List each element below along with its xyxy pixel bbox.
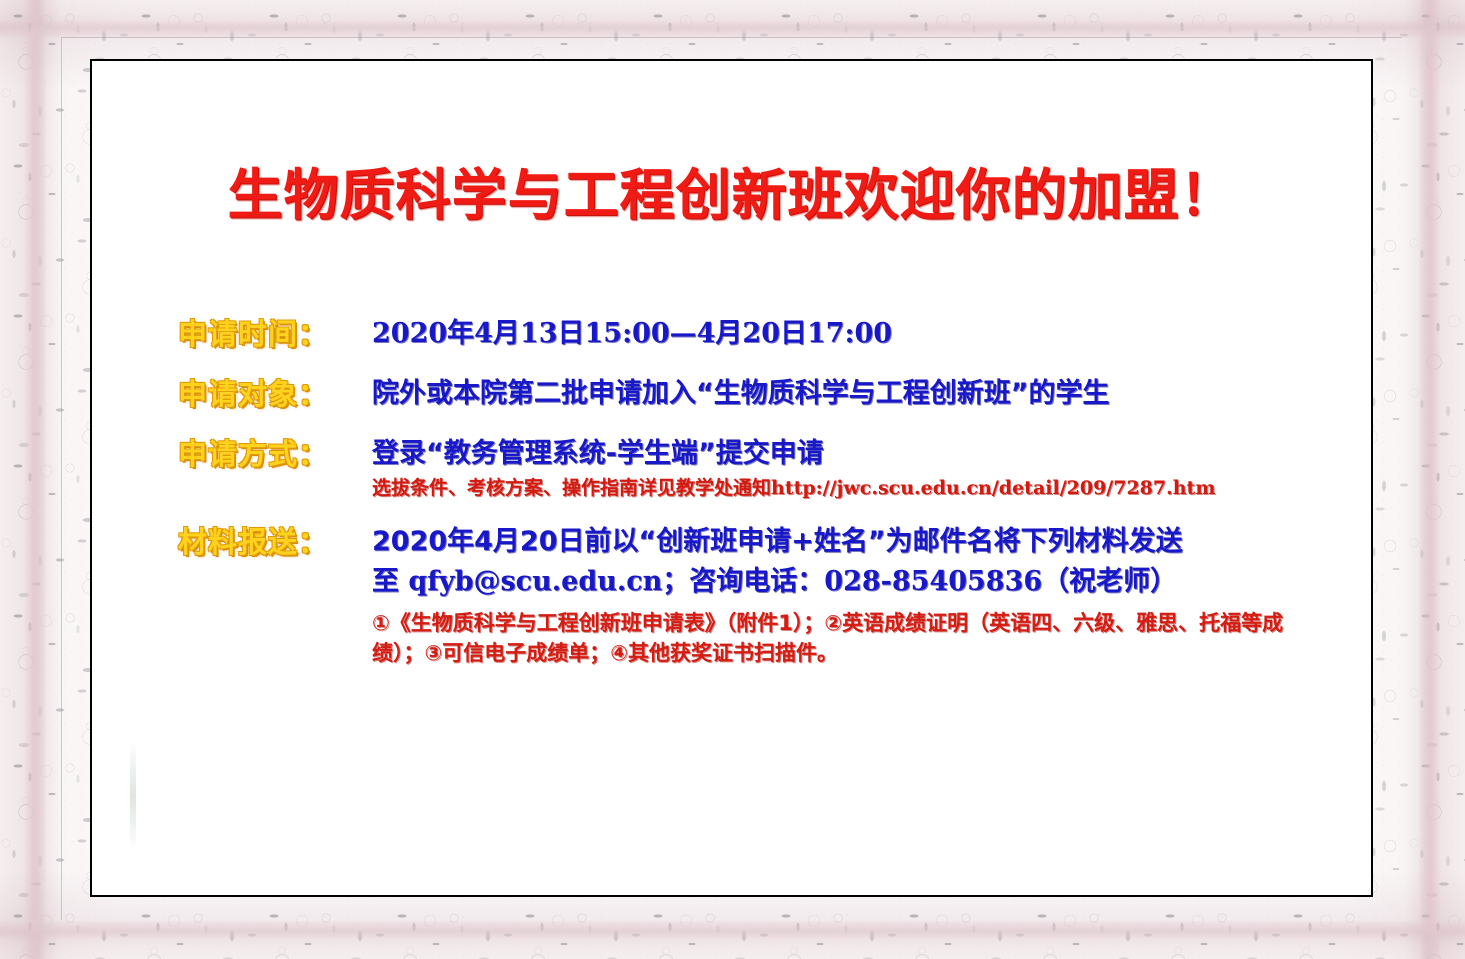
content-applicants: 院外或本院第二批申请加入“生物质科学与工程创新班”的学生	[372, 374, 1351, 414]
value-applicants: 院外或本院第二批申请加入“生物质科学与工程创新班”的学生	[372, 374, 1351, 414]
submission-prefix-text: 至	[372, 566, 408, 597]
note-application-method-text: 选拔条件、考核方案、操作指南详见教学处通知	[372, 477, 771, 499]
contact-person-name: （祝老师）	[1042, 566, 1177, 597]
info-row-material-submission: 材料报送： 2020年4月20日前以“创新班申请+姓名”为邮件名将下列材料发送 …	[178, 522, 1351, 668]
materials-checklist: ①《生物质科学与工程创新班申请表》（附件1）；②英语成绩证明（英语四、六级、雅思…	[372, 608, 1312, 668]
content-material-submission: 2020年4月20日前以“创新班申请+姓名”为邮件名将下列材料发送 至 qfyb…	[372, 522, 1351, 668]
info-row-applicants: 申请对象： 院外或本院第二批申请加入“生物质科学与工程创新班”的学生	[178, 374, 1351, 414]
label-applicants: 申请对象：	[178, 374, 372, 414]
poster-root: 生物质科学与工程创新班欢迎你的加盟！ 申请时间： 2020年4月13日15:00…	[0, 0, 1465, 959]
value-application-time: 2020年4月13日15:00—4月20日17:00	[372, 314, 1351, 354]
content-application-method: 登录“教务管理系统-学生端”提交申请 选拔条件、考核方案、操作指南详见教学处通知…	[372, 434, 1351, 502]
content-application-time: 2020年4月13日15:00—4月20日17:00	[372, 314, 1351, 354]
poster-title: 生物质科学与工程创新班欢迎你的加盟！	[92, 165, 1371, 225]
info-row-application-method: 申请方式： 登录“教务管理系统-学生端”提交申请 选拔条件、考核方案、操作指南详…	[178, 434, 1351, 502]
label-application-method: 申请方式：	[178, 434, 372, 474]
jwc-notice-link[interactable]: http://jwc.scu.edu.cn/detail/209/7287.ht…	[771, 477, 1215, 499]
note-application-method: 选拔条件、考核方案、操作指南详见教学处通知http://jwc.scu.edu.…	[372, 475, 1351, 502]
poster-body: 申请时间： 2020年4月13日15:00—4月20日17:00 申请对象： 院…	[178, 314, 1351, 668]
poster-card: 生物质科学与工程创新班欢迎你的加盟！ 申请时间： 2020年4月13日15:00…	[90, 59, 1373, 897]
label-application-time: 申请时间：	[178, 314, 372, 354]
contact-phone-number: 028-85405836	[824, 566, 1042, 597]
submission-mid-text: ；咨询电话：	[662, 566, 824, 597]
value-material-submission-line2: 至 qfyb@scu.edu.cn；咨询电话：028-85405836（祝老师）	[372, 562, 1351, 602]
value-material-submission-line1: 2020年4月20日前以“创新班申请+姓名”为邮件名将下列材料发送	[372, 522, 1351, 562]
label-material-submission: 材料报送：	[178, 522, 372, 562]
info-row-application-time: 申请时间： 2020年4月13日15:00—4月20日17:00	[178, 314, 1351, 354]
submission-email-address[interactable]: qfyb@scu.edu.cn	[408, 566, 662, 597]
value-application-method: 登录“教务管理系统-学生端”提交申请	[372, 434, 1351, 474]
scan-artifact	[130, 741, 136, 851]
